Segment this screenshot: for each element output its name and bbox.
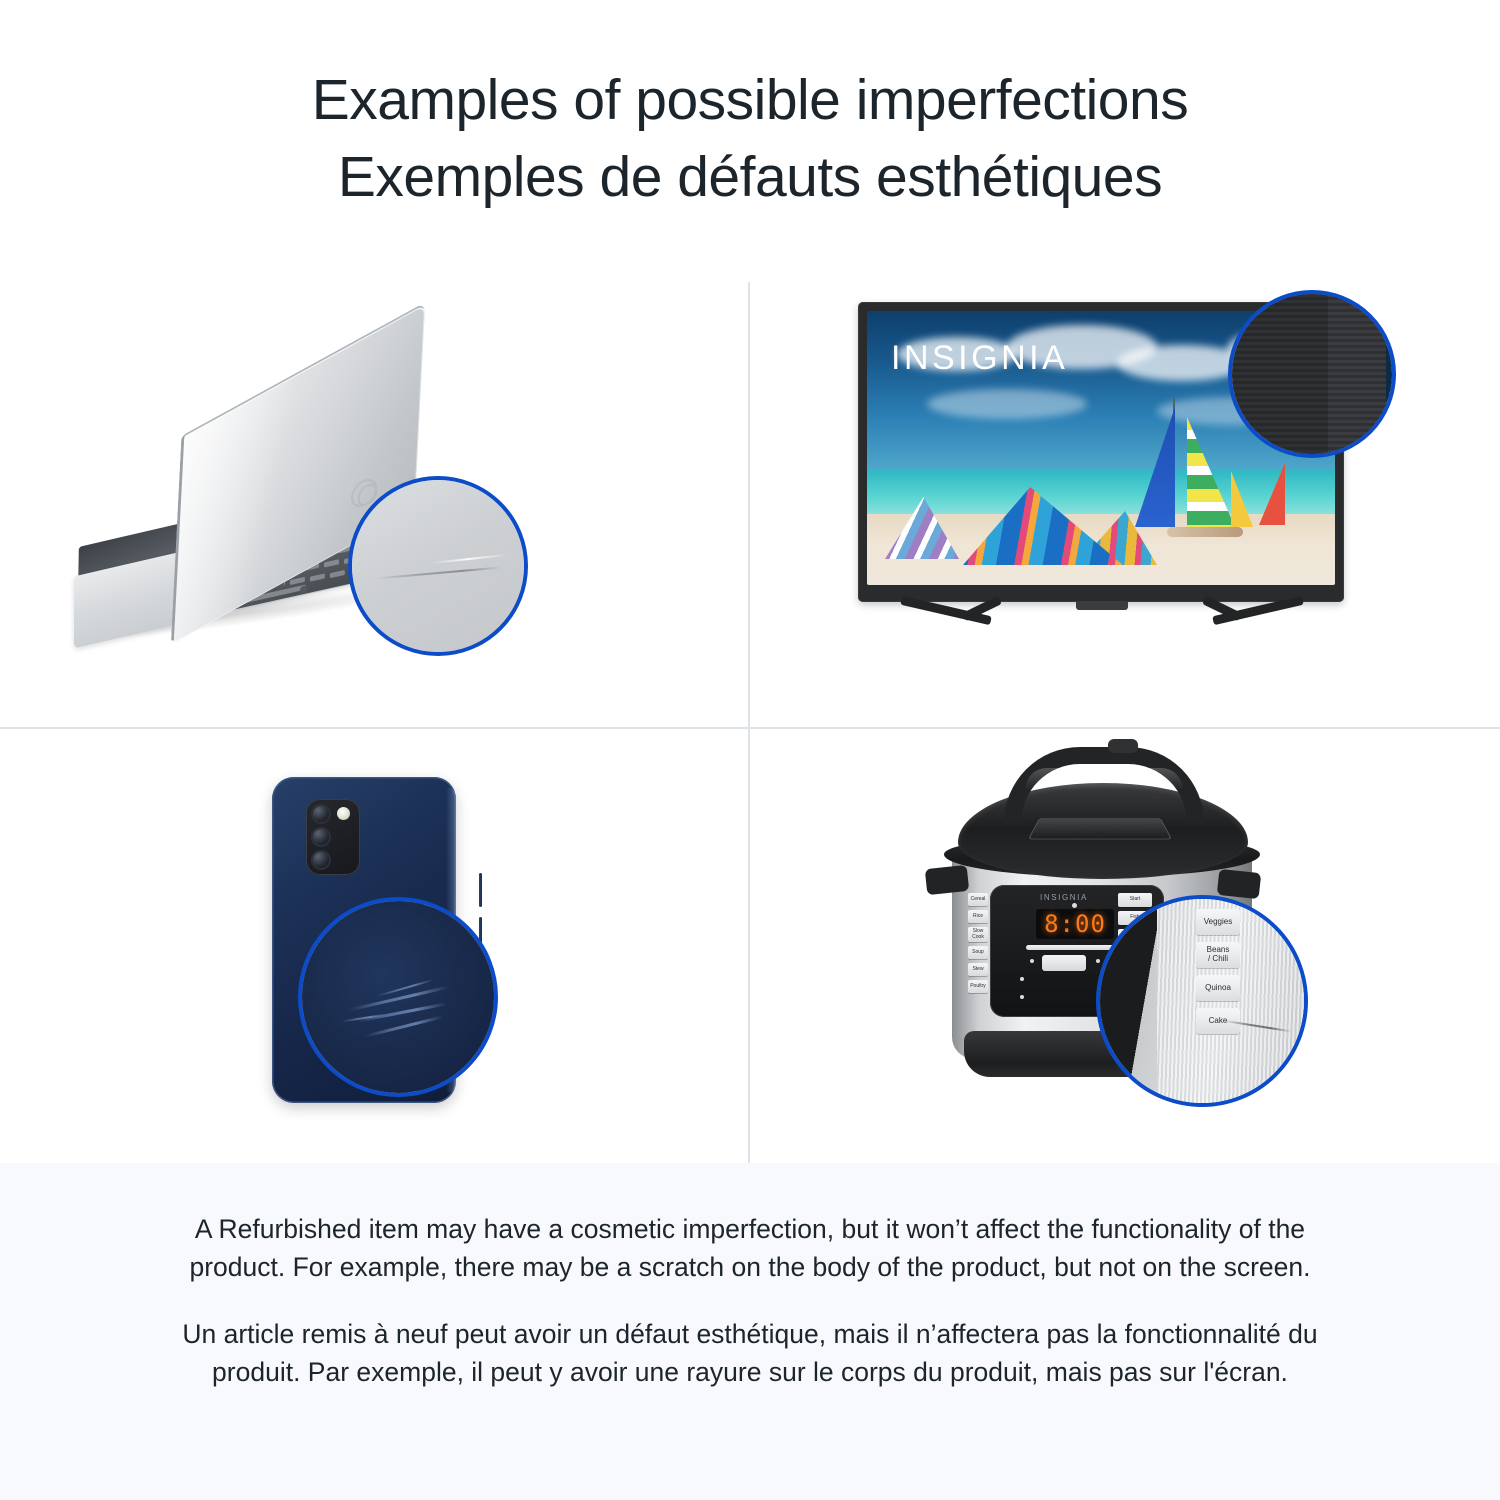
cooker-preset-window (1042, 955, 1086, 971)
phone-camera-lens-2 (311, 827, 331, 847)
cooker-mag-quinoa-button[interactable]: Quinoa (1196, 975, 1240, 1001)
phone-scratch-4 (377, 979, 433, 997)
tv-beach-boat (1167, 527, 1243, 537)
page-title-fr: Exemples de défauts esthétiques (338, 139, 1162, 216)
tv-bottom-badge (1076, 602, 1128, 610)
phone-camera-lens-1 (311, 804, 331, 824)
footer-paragraph-fr: Un article remis à neuf peut avoir un dé… (150, 1316, 1350, 1391)
magnifier-tv-bezel-scuff (1228, 290, 1396, 458)
footer-paragraph-en: A Refurbished item may have a cosmetic i… (150, 1211, 1350, 1286)
cooker-status-indicator (1072, 903, 1077, 908)
cooker-indicator-keepwarm (1020, 995, 1024, 999)
cooker-left-button[interactable]: Poultry (968, 980, 988, 993)
example-cell-pressure-cooker: INSIGNIA 8:00 Cereal (750, 729, 1500, 1163)
phone-camera-module (306, 799, 360, 875)
cooker-left-button[interactable]: Rice (968, 910, 988, 923)
cooker-left-button[interactable]: Cereal (968, 893, 988, 906)
laptop-scratch-mark (374, 566, 502, 579)
laptop-illustration (0, 282, 748, 727)
magnifier-phone-scratches (298, 897, 498, 1097)
cooker-indicator-less (1030, 959, 1034, 963)
example-cell-television: INSIGNIA (750, 282, 1500, 727)
example-cell-smartphone (0, 729, 748, 1163)
cooker-steam-valve (1108, 739, 1138, 753)
pressure-cooker-illustration: INSIGNIA 8:00 Cereal (750, 729, 1500, 1163)
cooker-brand-label: INSIGNIA (1040, 893, 1088, 902)
tv-magnified-bezel-side (1328, 290, 1386, 458)
page-title-en: Examples of possible imperfections (312, 62, 1188, 139)
smartphone-illustration (0, 729, 748, 1163)
cooker-side-handle-right (1217, 869, 1261, 899)
product-examples-grid: INSIGNIA (0, 282, 1500, 1163)
cooker-mag-beans-chili-button[interactable]: Beans / Chili (1196, 942, 1240, 968)
magnifier-cooker-scratch: Veggies Beans / Chili Quinoa Cake (1096, 895, 1308, 1107)
cooker-left-button[interactable]: Slow Cook (968, 927, 988, 942)
cooker-mag-veggies-button[interactable]: Veggies (1196, 909, 1240, 935)
magnifier-laptop-scratch (348, 476, 528, 656)
tv-screen-brand-logo: INSIGNIA (891, 339, 1068, 378)
cooker-side-handle-left (925, 865, 969, 895)
phone-camera-flash-icon (337, 807, 350, 820)
page-footer: A Refurbished item may have a cosmetic i… (0, 1163, 1500, 1500)
tv-scene-sea (867, 470, 1335, 517)
cooker-lid-handle (1004, 747, 1204, 823)
page-header: Examples of possible imperfections Exemp… (0, 0, 1500, 282)
cooker-indicator-manual (1020, 977, 1024, 981)
laptop-scratch-highlight (430, 554, 508, 564)
cooker-left-button[interactable]: Soup (968, 946, 988, 959)
cooker-left-button[interactable]: Stew (968, 963, 988, 976)
refurbished-imperfections-page: Examples of possible imperfections Exemp… (0, 0, 1500, 1500)
example-cell-laptop (0, 282, 748, 727)
cooker-left-button-column[interactable]: Cereal Rice Slow Cook Soup Stew Poultry (968, 893, 988, 993)
television-illustration: INSIGNIA (750, 282, 1500, 727)
cooker-led-value: 8:00 (1044, 910, 1106, 938)
phone-camera-lens-3 (311, 850, 331, 870)
